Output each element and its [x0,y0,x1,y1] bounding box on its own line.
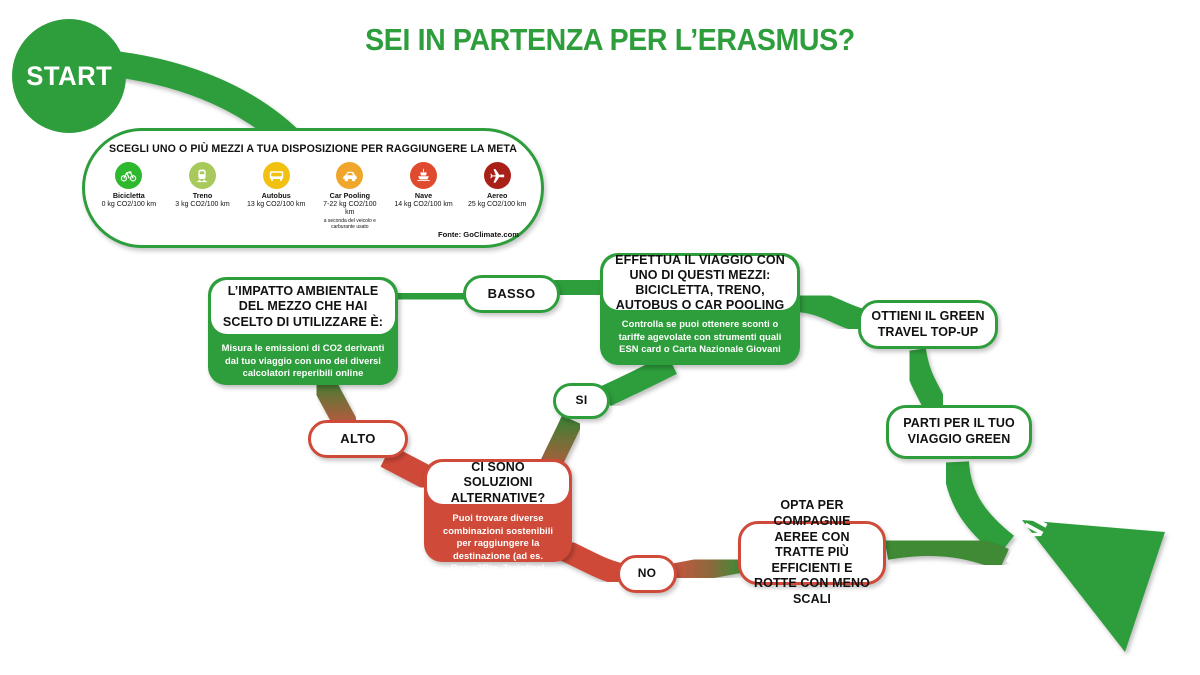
transport-mode-car-pooling: Car Pooling 7-22 kg CO2/100 km a seconda… [318,162,382,230]
transport-mode-bicicletta: Bicicletta 0 kg CO2/100 km [97,162,161,230]
mode-name: Autobus [244,192,308,200]
connector-si-to-effettua [606,364,672,396]
page-title: SEI IN PARTENZA PER L’ERASMUS? [297,22,923,58]
transport-mode-aereo: Aereo 25 kg CO2/100 km [465,162,529,230]
connector-impatto-to-basso [390,294,470,298]
transport-mode-autobus: Autobus 13 kg CO2/100 km [244,162,308,230]
bicycle-icon [115,162,142,189]
node-parti-viaggio-green[interactable]: PARTI PER IL TUO VIAGGIO GREEN [886,405,1032,459]
node-effettua-head: EFFETTUA IL VIAGGIO CON UNO DI QUESTI ME… [603,256,797,310]
node-alto-label: ALTO [332,432,383,447]
transport-mode-treno: Treno 3 kg CO2/100 km [171,162,235,230]
node-effettua-viaggio[interactable]: EFFETTUA IL VIAGGIO CON UNO DI QUESTI ME… [600,253,800,365]
transport-options-card: SCEGLI UNO O PIÙ MEZZI A TUA DISPOSIZION… [82,128,544,248]
node-opta-compagnie-aeree[interactable]: OPTA PER COMPAGNIE AEREE CON TRATTE PIÙ … [738,521,886,585]
airplane-icon [484,162,511,189]
node-basso-label: BASSO [480,287,544,302]
transport-card-source: Fonte: GoClimate.com [438,230,519,239]
connector-opta-to-finish [886,544,1004,560]
mode-name: Bicicletta [97,192,161,200]
transport-mode-list: Bicicletta 0 kg CO2/100 km Treno 3 kg CO… [85,162,541,230]
connector-topup-to-parti [914,350,936,408]
train-icon [189,162,216,189]
mode-value: 13 kg CO2/100 km [244,201,308,209]
mode-name: Treno [171,192,235,200]
node-impatto-head: L’IMPATTO AMBIENTALE DEL MEZZO CHE HAI S… [211,280,395,334]
node-topup-label: OTTIENI IL GREEN TRAVEL TOP-UP [861,309,995,340]
node-si-label: SI [568,394,596,408]
node-alternative-head: CI SONO SOLUZIONI ALTERNATIVE? [427,462,569,504]
node-basso[interactable]: BASSO [463,275,560,313]
node-alto[interactable]: ALTO [308,420,408,458]
connector-effettua-to-topup [798,300,866,322]
mode-note: a seconda del veicolo e carburante usato [318,218,382,230]
mode-name: Nave [392,192,456,200]
node-ottieni-top-up[interactable]: OTTIENI IL GREEN TRAVEL TOP-UP [858,300,998,349]
mode-name: Car Pooling [318,192,382,200]
node-no[interactable]: NO [617,555,677,593]
node-effettua-body: Controlla se puoi ottenere sconti o tari… [600,313,800,365]
connector-parti-to-finish [956,462,1006,546]
mode-value: 0 kg CO2/100 km [97,201,161,209]
car-icon [336,162,363,189]
node-opta-label: OPTA PER COMPAGNIE AEREE CON TRATTE PIÙ … [741,498,883,607]
mode-value: 14 kg CO2/100 km [392,201,456,209]
node-soluzioni-alternative[interactable]: CI SONO SOLUZIONI ALTERNATIVE? Puoi trov… [424,459,572,562]
mode-value: 25 kg CO2/100 km [465,201,529,209]
transport-card-heading: SCEGLI UNO O PIÙ MEZZI A TUA DISPOSIZION… [85,143,541,155]
node-impatto-ambientale[interactable]: L’IMPATTO AMBIENTALE DEL MEZZO CHE HAI S… [208,277,398,385]
start-node[interactable]: START [12,19,126,133]
node-si[interactable]: SI [553,383,610,419]
node-alternative-body: Puoi trovare diverse combinazioni sosten… [424,507,572,584]
node-impatto-body: Misura le emissioni di CO2 derivanti dal… [208,337,398,389]
start-label: START [26,61,112,92]
ship-icon [410,162,437,189]
connector-no-to-opta [676,562,740,574]
transport-mode-nave: Nave 14 kg CO2/100 km [392,162,456,230]
mode-value: 3 kg CO2/100 km [171,201,235,209]
node-no-label: NO [630,567,665,581]
flowchart-canvas: SEI IN PARTENZA PER L’ERASMUS? START FIN… [0,0,1200,675]
node-parti-label: PARTI PER IL TUO VIAGGIO GREEN [889,416,1029,447]
bus-icon [263,162,290,189]
mode-name: Aereo [465,192,529,200]
mode-value: 7-22 kg CO2/100 km [318,201,382,217]
